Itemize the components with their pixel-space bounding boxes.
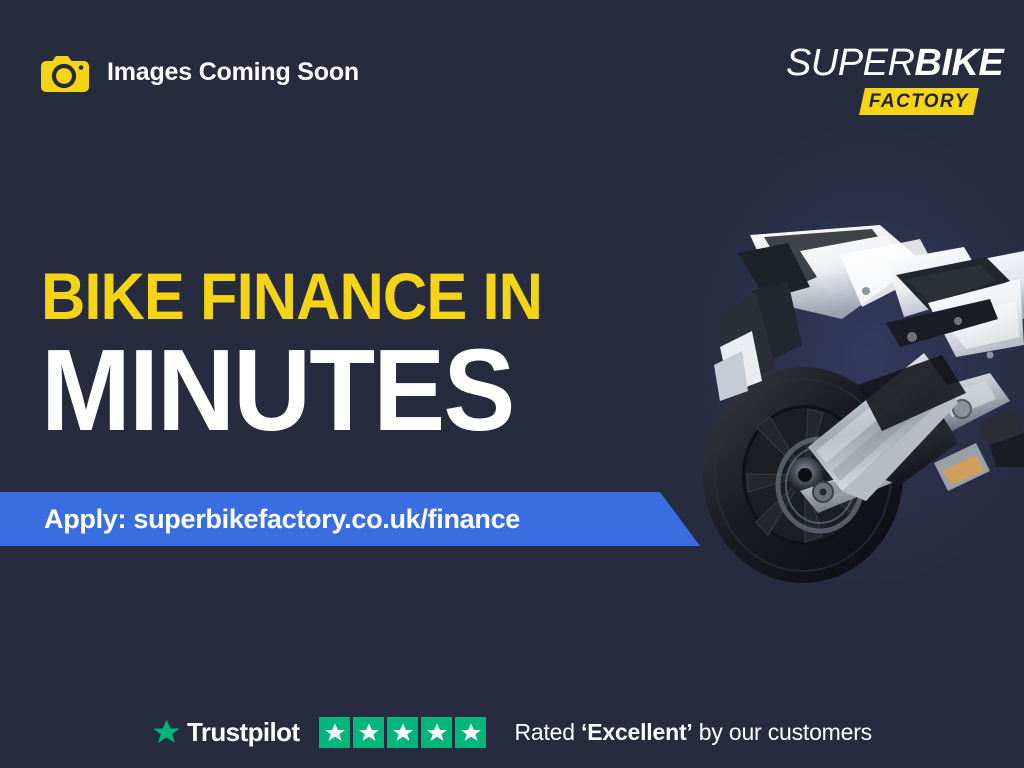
trustpilot-footer: Trustpilot Rated ‘Excellent’ by our cust… [0, 717, 1024, 748]
rating-emphasis: ‘Excellent’ [581, 719, 693, 745]
logo-word-super: SUPER [786, 42, 914, 84]
headline-line-1: BIKE FINANCE IN [41, 264, 542, 328]
trustpilot-star-icon [152, 718, 181, 747]
star-icon [421, 717, 452, 748]
logo-word-factory: FACTORY [869, 91, 969, 113]
camera-icon [40, 52, 90, 92]
rating-suffix: by our customers [693, 719, 872, 745]
logo-word-bike: BIKE [914, 42, 1003, 84]
promo-banner-canvas: Images Coming Soon SUPERBIKE FACTORY BIK… [0, 0, 1024, 768]
logo-factory-banner: FACTORY [859, 88, 979, 115]
apply-cta-text: Apply: superbikefactory.co.uk/finance [44, 504, 520, 535]
images-coming-soon: Images Coming Soon [40, 52, 359, 92]
trustpilot-wordmark: Trustpilot [187, 717, 299, 748]
motorcycle-illustration [690, 195, 1024, 595]
headline-line-2: MINUTES [41, 332, 542, 448]
star-icon [387, 717, 418, 748]
apply-cta-banner[interactable]: Apply: superbikefactory.co.uk/finance [0, 492, 700, 546]
logo-top-line: SUPERBIKE [786, 44, 976, 82]
star-icon [319, 717, 350, 748]
trustpilot-rating-stars [319, 717, 486, 748]
rating-prefix: Rated [514, 719, 581, 745]
superbike-factory-logo: SUPERBIKE FACTORY [786, 44, 976, 115]
page-title: BIKE FINANCE IN MINUTES [41, 264, 580, 448]
trustpilot-brand[interactable]: Trustpilot [152, 717, 299, 748]
images-coming-soon-label: Images Coming Soon [107, 58, 359, 87]
star-icon [455, 717, 486, 748]
rating-caption: Rated ‘Excellent’ by our customers [514, 719, 872, 746]
star-icon [353, 717, 384, 748]
